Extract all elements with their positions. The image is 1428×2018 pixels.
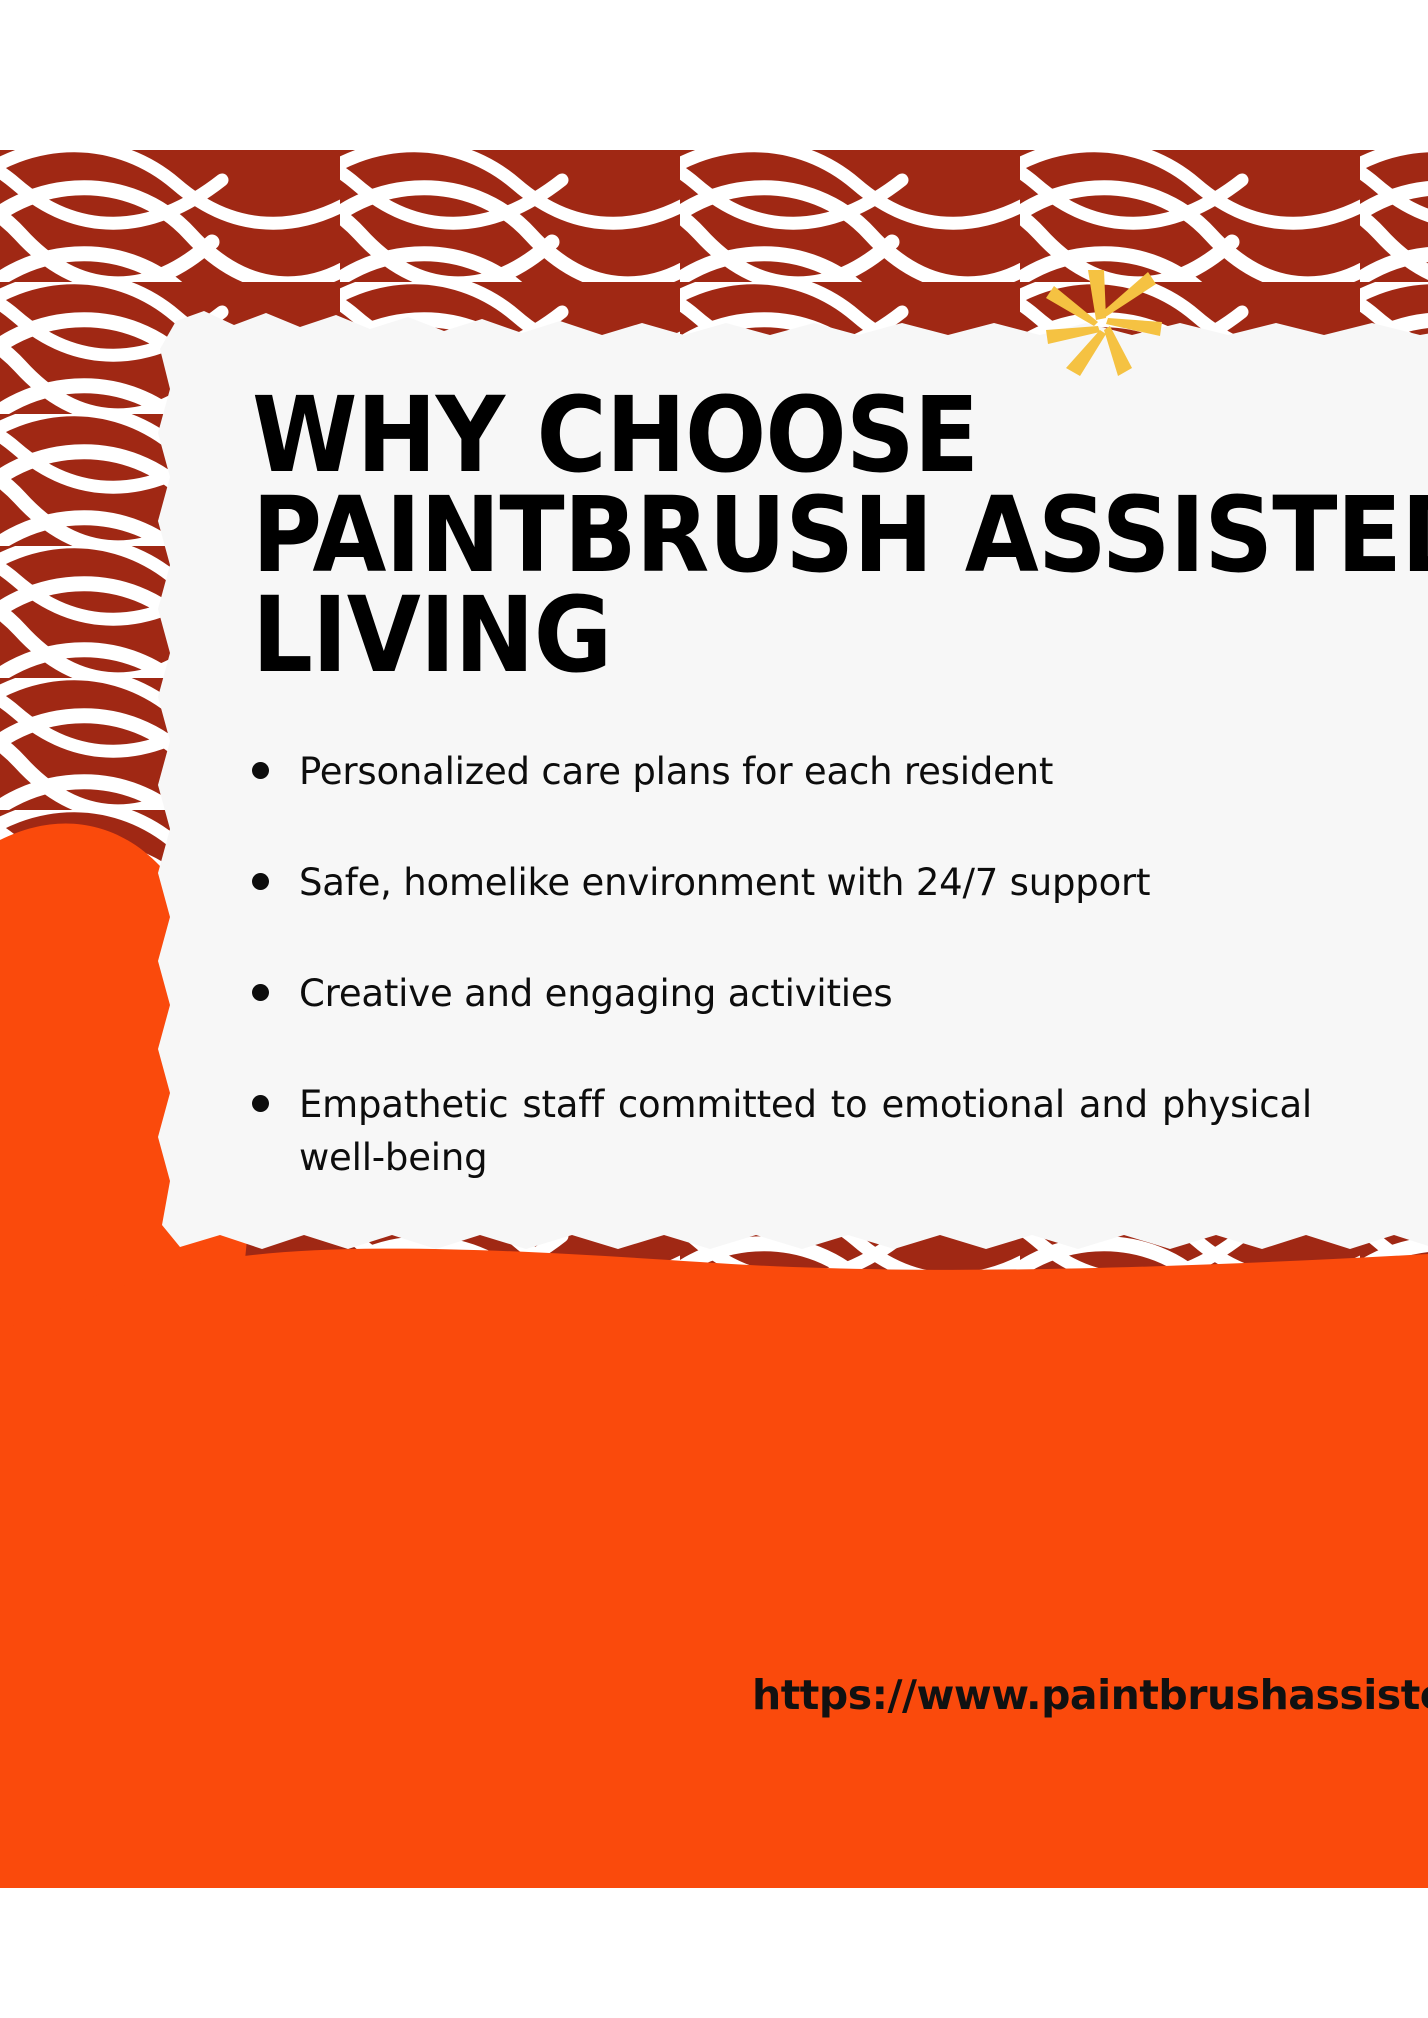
list-item-label: Personalized care plans for each residen… [299,745,1312,798]
poster-canvas: WHY CHOOSE PAINTBRUSH ASSISTED LIVING Pe… [0,0,1428,2018]
bullet-dot-icon [252,873,269,890]
bullet-dot-icon [252,762,269,779]
bullet-dot-icon [252,1095,269,1112]
card-content: WHY CHOOSE PAINTBRUSH ASSISTED LIVING Pe… [252,385,1428,1184]
list-item-label: Empathetic staff committed to emotional … [299,1078,1312,1184]
page-title-line-2: PAINTBRUSH ASSISTED [252,485,1338,585]
bullet-dot-icon [252,984,269,1001]
list-item: Empathetic staff committed to emotional … [252,1078,1312,1184]
list-item: Personalized care plans for each residen… [252,745,1312,798]
page-title: WHY CHOOSE PAINTBRUSH ASSISTED LIVING [252,385,1338,685]
page-title-line-1: WHY CHOOSE [252,385,1338,485]
starburst-icon [1044,268,1164,378]
page-title-line-3: LIVING [252,585,1338,685]
list-item-label: Creative and engaging activities [299,967,1312,1020]
list-item: Safe, homelike environment with 24/7 sup… [252,856,1312,909]
list-item: Creative and engaging activities [252,967,1312,1020]
benefits-list: Personalized care plans for each residen… [252,745,1312,1184]
list-item-label: Safe, homelike environment with 24/7 sup… [299,856,1312,909]
